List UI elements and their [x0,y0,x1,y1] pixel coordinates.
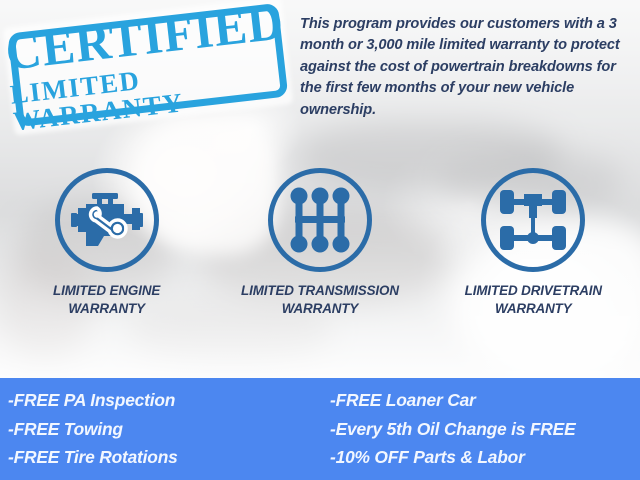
transmission-shifter-icon [289,187,351,253]
warranty-badges: LIMITED ENGINE WARRANTY [0,168,640,318]
badge-label-line2: WARRANTY [465,300,602,318]
badge-ring [481,168,585,272]
free-offers-banner: -FREE PA Inspection -FREE Towing -FREE T… [0,378,640,480]
program-description: This program provides our customers with… [300,14,630,121]
badge-label: LIMITED TRANSMISSION WARRANTY [241,282,399,318]
offer-item: -Every 5th Oil Change is FREE [330,415,575,443]
badge-label: LIMITED DRIVETRAIN WARRANTY [465,282,602,318]
warranty-promo-graphic: CERTIFIED LIMITED WARRANTY This program … [0,0,640,480]
offers-left-column: -FREE PA Inspection -FREE Towing -FREE T… [0,386,320,471]
badge-label: LIMITED ENGINE WARRANTY [53,282,160,318]
drivetrain-icon [498,186,568,254]
badge-ring [55,168,159,272]
engine-icon [70,189,144,251]
badge-label-line1: LIMITED DRIVETRAIN [465,282,602,300]
badge-label-line1: LIMITED ENGINE [53,282,160,300]
badge-limited-drivetrain-warranty: LIMITED DRIVETRAIN WARRANTY [433,168,633,318]
badge-ring [268,168,372,272]
offer-item: -FREE Tire Rotations [8,443,320,471]
offers-right-column: -FREE Loaner Car -Every 5th Oil Change i… [320,386,575,471]
offer-item: -FREE Towing [8,415,320,443]
badge-limited-engine-warranty: LIMITED ENGINE WARRANTY [7,168,207,318]
offer-item: -FREE Loaner Car [330,386,575,414]
offer-item: -FREE PA Inspection [8,386,320,414]
badge-label-line2: WARRANTY [53,300,160,318]
badge-label-line2: WARRANTY [241,300,399,318]
badge-label-line1: LIMITED TRANSMISSION [241,282,399,300]
offer-item: -10% OFF Parts & Labor [330,443,575,471]
badge-limited-transmission-warranty: LIMITED TRANSMISSION WARRANTY [220,168,420,318]
